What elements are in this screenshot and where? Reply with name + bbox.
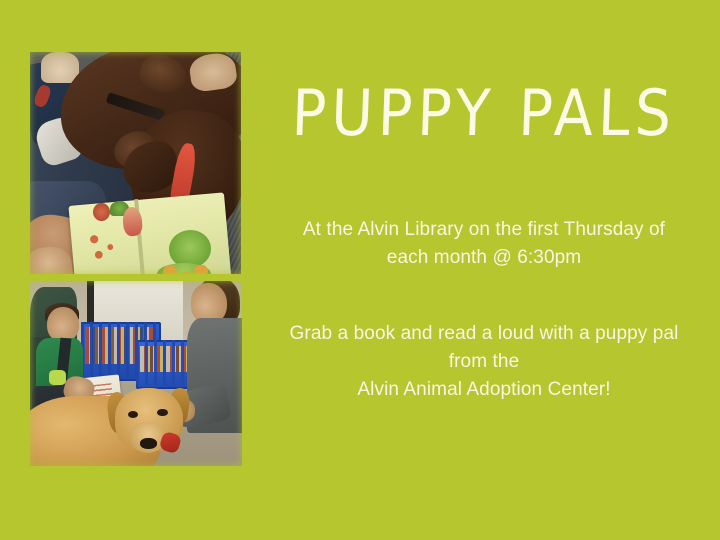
book-illustration-dots [85,230,131,261]
boy-shirt-logo [49,370,66,385]
photo-child-with-brown-dog [30,52,241,274]
description-line-2: from the [258,348,710,376]
description-line-3: Alvin Animal Adoption Center! [258,376,710,404]
book-illustration-circle [93,203,110,221]
schedule-line-1: At the Alvin Library on the first Thursd… [258,216,710,244]
schedule-text: At the Alvin Library on the first Thursd… [258,216,710,272]
book-fruit-dots [161,265,212,274]
boy-head [47,307,79,342]
photo-boy-reading-to-golden-retriever [30,281,242,466]
flyer-text-column: PUPPY PALS At the Alvin Library on the f… [258,0,710,540]
schedule-line-2: each month @ 6:30pm [258,244,710,272]
description-text: Grab a book and read a loud with a puppy… [258,320,710,404]
golden-retriever-eye-left [128,411,139,418]
description-line-1: Grab a book and read a loud with a puppy… [258,320,710,348]
golden-retriever-eye-right [157,409,168,416]
puppy-pals-flyer: PUPPY PALS At the Alvin Library on the f… [0,0,720,540]
page-title: PUPPY PALS [257,83,711,147]
